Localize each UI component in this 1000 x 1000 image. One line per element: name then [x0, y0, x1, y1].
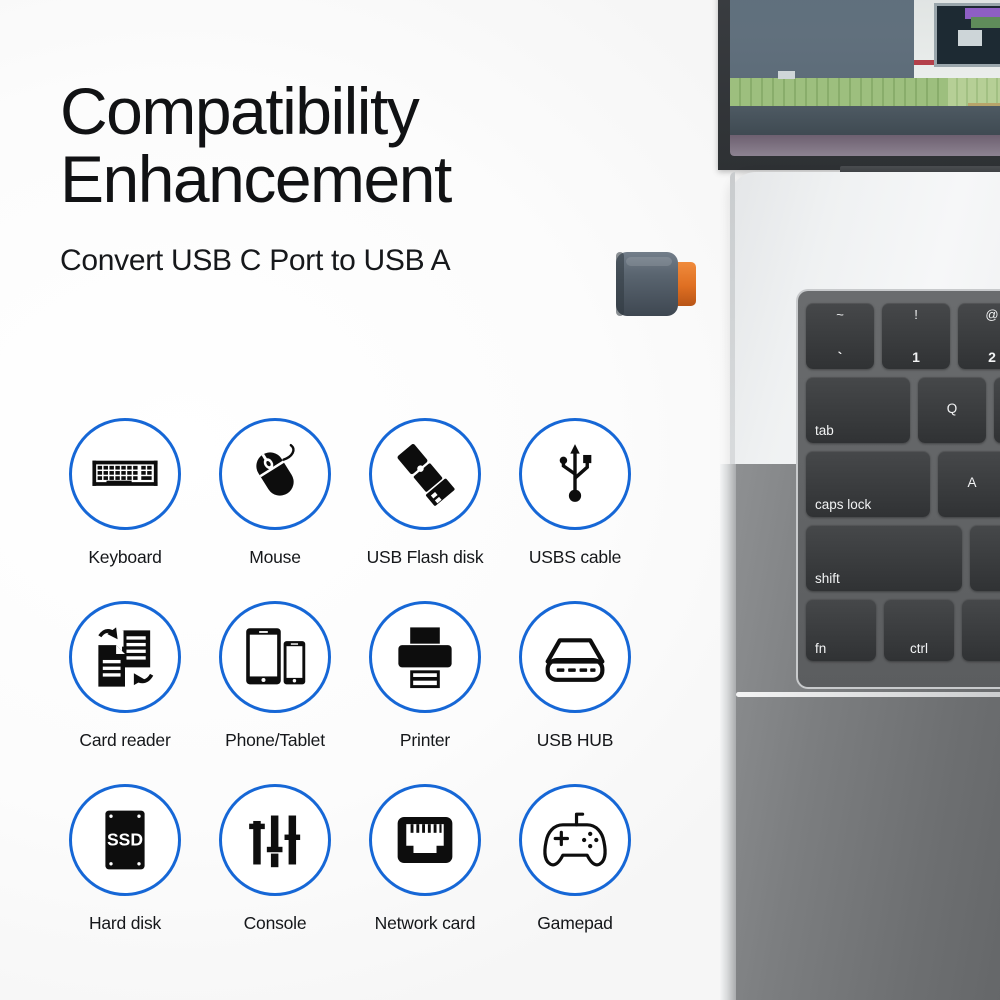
- key-tilde-top: ~: [806, 307, 874, 322]
- laptop-body-rim: [720, 464, 736, 1000]
- ssd-icon: SSD: [69, 784, 181, 896]
- laptop-lid: [718, 0, 1000, 170]
- key-alt-option[interactable]: alt opt: [962, 599, 1000, 661]
- key-1-top: !: [882, 307, 950, 322]
- compat-label: Printer: [400, 730, 450, 751]
- laptop-screen: [730, 0, 1000, 156]
- laptop-keyboard: ~ ` ! 1 @ 2 tab Q caps lock: [796, 289, 1000, 689]
- page-subtitle: Convert USB C Port to USB A: [60, 244, 620, 278]
- compat-item: Network card: [350, 784, 500, 967]
- key-2[interactable]: @ 2: [958, 303, 1000, 369]
- key-tab[interactable]: tab: [806, 377, 910, 443]
- key-q-label: Q: [918, 401, 986, 416]
- key-fn-label: fn: [815, 641, 826, 656]
- product-banner: Compatibility Enhancement Convert USB C …: [0, 0, 1000, 1000]
- mouse-icon: [219, 418, 331, 530]
- compat-label: USBS cable: [529, 547, 621, 568]
- compat-item: Console: [200, 784, 350, 967]
- screen-photo: [730, 0, 1000, 156]
- compat-item: Phone/Tablet: [200, 601, 350, 784]
- compat-label: Keyboard: [88, 547, 161, 568]
- compat-item: SSD Hard disk: [50, 784, 200, 967]
- key-ctrl-label: ctrl: [884, 641, 954, 656]
- compat-item: Keyboard: [50, 418, 200, 601]
- compat-item: USB Flash disk: [350, 418, 500, 601]
- gamepad-icon: [519, 784, 631, 896]
- compat-label: Mouse: [249, 547, 301, 568]
- page-title: Compatibility Enhancement: [60, 78, 620, 214]
- compat-item: Card reader: [50, 601, 200, 784]
- key-tilde-bottom: `: [806, 349, 874, 365]
- compat-item: USB HUB: [500, 601, 650, 784]
- key-tilde[interactable]: ~ `: [806, 303, 874, 369]
- key-2-top: @: [958, 307, 1000, 322]
- ssd-label: SSD: [107, 830, 143, 850]
- keyboard-icon: [69, 418, 181, 530]
- compatibility-grid: Keyboard Mouse: [50, 418, 650, 967]
- usb-trident-icon: [519, 418, 631, 530]
- usb-c-to-usb-a-adapter: [608, 244, 712, 326]
- compat-item: Printer: [350, 601, 500, 784]
- key-a[interactable]: A: [938, 451, 1000, 517]
- compat-label: Phone/Tablet: [225, 730, 325, 751]
- console-sliders-icon: [219, 784, 331, 896]
- key-caps-lock[interactable]: caps lock: [806, 451, 930, 517]
- key-z[interactable]: [970, 525, 1000, 591]
- key-1[interactable]: ! 1: [882, 303, 950, 369]
- compat-label: Gamepad: [537, 913, 612, 934]
- key-2-bottom: 2: [958, 349, 1000, 365]
- compat-label: Hard disk: [89, 913, 161, 934]
- compat-label: Network card: [375, 913, 476, 934]
- key-q[interactable]: Q: [918, 377, 986, 443]
- key-ctrl[interactable]: ctrl: [884, 599, 954, 661]
- usb-flash-drive-icon: [369, 418, 481, 530]
- key-shift[interactable]: shift: [806, 525, 962, 591]
- compat-item: Gamepad: [500, 784, 650, 967]
- compat-label: Console: [244, 913, 307, 934]
- laptop-palmrest-edge: [736, 692, 1000, 697]
- usb-hub-icon: [519, 601, 631, 713]
- key-shift-label: shift: [815, 571, 840, 586]
- rj45-port-icon: [369, 784, 481, 896]
- compat-item: USBS cable: [500, 418, 650, 601]
- phone-tablet-icon: [219, 601, 331, 713]
- key-fn[interactable]: fn: [806, 599, 876, 661]
- compat-item: Mouse: [200, 418, 350, 601]
- compat-label: USB HUB: [537, 730, 613, 751]
- laptop-illustration: ~ ` ! 1 @ 2 tab Q caps lock: [700, 0, 1000, 1000]
- compat-label: Card reader: [79, 730, 170, 751]
- key-1-bottom: 1: [882, 349, 950, 365]
- compat-label: USB Flash disk: [367, 547, 484, 568]
- printer-icon: [369, 601, 481, 713]
- key-a-label: A: [938, 475, 1000, 490]
- card-reader-icon: [69, 601, 181, 713]
- key-caps-lock-label: caps lock: [815, 497, 871, 512]
- headline-block: Compatibility Enhancement Convert USB C …: [60, 78, 620, 278]
- key-w[interactable]: [994, 377, 1000, 443]
- key-tab-label: tab: [815, 423, 834, 438]
